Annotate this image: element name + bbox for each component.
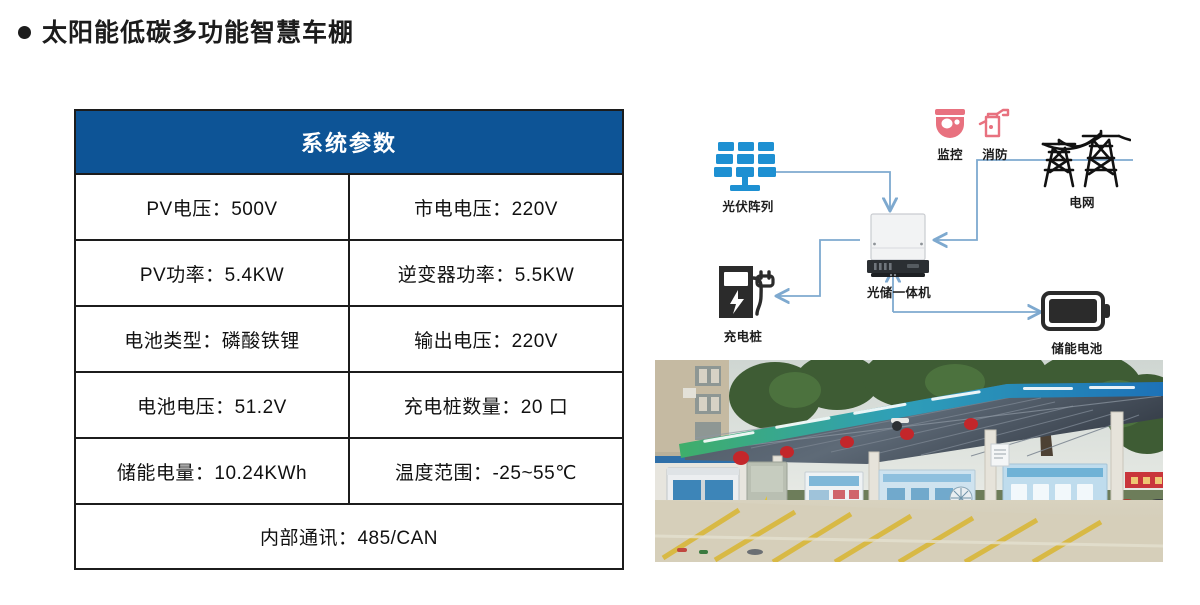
spec-cell-storage-energy: 储能电量：10.24KWh (75, 438, 349, 504)
solar-carport-photo (655, 360, 1163, 562)
table-row: 储能电量：10.24KWh 温度范围：-25~55℃ (75, 438, 623, 504)
diagram-label-inverter: 光储一体机 (851, 282, 947, 301)
table-row: PV电压：500V 市电电压：220V (75, 174, 623, 240)
carport-photo-illustration (655, 360, 1163, 562)
spec-cell-pv-voltage: PV电压：500V (75, 174, 349, 240)
table-row: 电池类型：磷酸铁锂 输出电压：220V (75, 306, 623, 372)
table-row: PV功率：5.4KW 逆变器功率：5.5KW (75, 240, 623, 306)
diagram-label-pv: 光伏阵列 (705, 196, 791, 215)
diagram-label-battery: 储能电池 (1037, 338, 1117, 357)
battery-icon (1041, 288, 1113, 334)
diagram-node-pv[interactable] (712, 138, 784, 194)
spec-cell-inverter-power: 逆变器功率：5.5KW (349, 240, 623, 306)
spec-cell-grid-voltage: 市电电压：220V (349, 174, 623, 240)
diagram-node-fire[interactable] (977, 106, 1011, 138)
bullet-dot-icon (18, 26, 31, 39)
diagram-node-grid[interactable] (1035, 126, 1131, 192)
page-title-text: 太阳能低碳多功能智慧车棚 (42, 13, 354, 49)
page-title: 太阳能低碳多功能智慧车棚 (18, 13, 354, 49)
spec-cell-battery-voltage: 电池电压：51.2V (75, 372, 349, 438)
diagram-label-grid: 电网 (1047, 192, 1117, 211)
diagram-label-charger: 充电桩 (703, 326, 783, 345)
diagram-node-battery[interactable] (1041, 288, 1113, 334)
spec-cell-output-voltage: 输出电压：220V (349, 306, 623, 372)
charging-pile-icon (713, 260, 777, 322)
power-tower-icon (1035, 126, 1131, 192)
cctv-camera-icon (933, 108, 967, 138)
spec-cell-charger-count: 充电桩数量：20 口 (349, 372, 623, 438)
solar-panel-icon (712, 138, 784, 194)
spec-cell-pv-power: PV功率：5.4KW (75, 240, 349, 306)
flow-inverter-to-charger (777, 240, 860, 296)
spec-cell-battery-type: 电池类型：磷酸铁锂 (75, 306, 349, 372)
flow-pv-to-inverter (775, 172, 890, 210)
fire-extinguisher-icon (977, 106, 1011, 138)
diagram-label-monitor: 监控 (930, 144, 970, 163)
table-row: 内部通讯：485/CAN (75, 504, 623, 569)
inverter-unit-icon (861, 212, 935, 280)
table-header-title: 系统参数 (75, 110, 623, 174)
diagram-node-monitor[interactable] (933, 108, 967, 138)
diagram-label-fire: 消防 (975, 144, 1015, 163)
table-row: 电池电压：51.2V 充电桩数量：20 口 (75, 372, 623, 438)
spec-cell-internal-comm: 内部通讯：485/CAN (75, 504, 623, 569)
system-flow-diagram: 光伏阵列 监控 消防 (655, 100, 1165, 350)
diagram-node-inverter[interactable] (861, 212, 935, 280)
spec-cell-temp-range: 温度范围：-25~55℃ (349, 438, 623, 504)
table-header-row: 系统参数 (75, 110, 623, 174)
system-parameters-table: 系统参数 PV电压：500V 市电电压：220V PV功率：5.4KW 逆变器功… (74, 109, 624, 570)
diagram-node-charger[interactable] (713, 260, 777, 322)
